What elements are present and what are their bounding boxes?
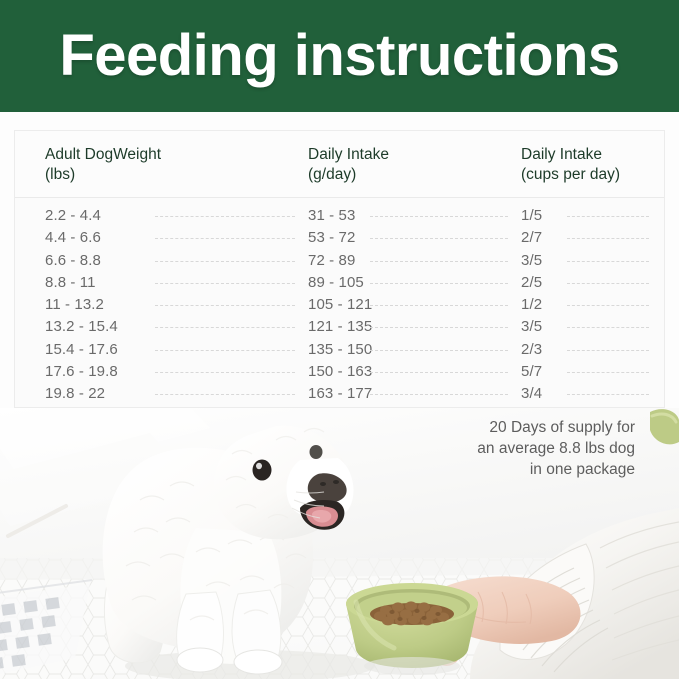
column-header-cups-title: Daily Intake bbox=[521, 146, 602, 163]
leader-line bbox=[155, 238, 295, 239]
supply-note-line-2: an average 8.8 lbs dog bbox=[375, 438, 635, 459]
leader-line bbox=[567, 350, 649, 351]
leader-line bbox=[370, 394, 508, 395]
leader-line bbox=[567, 327, 649, 328]
cell-weight: 4.4 - 6.6 bbox=[45, 227, 101, 249]
column-header-weight-title: Adult DogWeight bbox=[45, 146, 161, 163]
leader-line bbox=[567, 238, 649, 239]
feeding-instructions-page: Feeding instructions Adult DogWeight(lbs… bbox=[0, 0, 679, 679]
cell-grams: 31 - 53 bbox=[308, 205, 355, 227]
cell-weight: 15.4 - 17.6 bbox=[45, 339, 118, 361]
table-row: 13.2 - 15.4 121 - 135 3/5 bbox=[15, 316, 664, 338]
leader-line bbox=[155, 261, 295, 262]
cell-cups: 3/5 bbox=[521, 250, 542, 272]
leader-line bbox=[155, 283, 295, 284]
table-row: 11 - 13.2 105 - 121 1/2 bbox=[15, 294, 664, 316]
table-row: 4.4 - 6.6 53 - 72 2/7 bbox=[15, 227, 664, 249]
cell-weight: 11 - 13.2 bbox=[45, 294, 104, 316]
cell-grams: 53 - 72 bbox=[308, 227, 355, 249]
cell-weight: 8.8 - 11 bbox=[45, 272, 96, 294]
cell-grams: 89 - 105 bbox=[308, 272, 364, 294]
cell-cups: 2/7 bbox=[521, 227, 542, 249]
leader-line bbox=[155, 216, 295, 217]
leader-line bbox=[155, 372, 295, 373]
leader-line bbox=[567, 216, 649, 217]
leader-line bbox=[370, 372, 508, 373]
cell-grams: 121 - 135 bbox=[308, 316, 372, 338]
cell-grams: 105 - 121 bbox=[308, 294, 372, 316]
column-header-grams: Daily Intake(g/day) bbox=[308, 145, 389, 186]
page-title: Feeding instructions bbox=[59, 27, 619, 85]
cell-grams: 135 - 150 bbox=[308, 339, 372, 361]
table-row: 6.6 - 8.8 72 - 89 3/5 bbox=[15, 250, 664, 272]
leader-line bbox=[567, 261, 649, 262]
table-body: 2.2 - 4.4 31 - 53 1/5 4.4 - 6.6 53 - 72 … bbox=[15, 198, 664, 406]
leader-line bbox=[155, 305, 295, 306]
cell-cups: 3/4 bbox=[521, 383, 542, 405]
leader-line bbox=[370, 283, 508, 284]
leader-line bbox=[567, 305, 649, 306]
leader-line bbox=[155, 350, 295, 351]
table-row: 15.4 - 17.6 135 - 150 2/3 bbox=[15, 339, 664, 361]
cell-cups: 5/7 bbox=[521, 361, 542, 383]
leader-line bbox=[567, 394, 649, 395]
supply-note: 20 Days of supply for an average 8.8 lbs… bbox=[375, 417, 635, 480]
leader-line bbox=[155, 327, 295, 328]
cell-grams: 150 - 163 bbox=[308, 361, 372, 383]
cell-weight: 2.2 - 4.4 bbox=[45, 205, 101, 227]
column-header-cups-unit: (cups per day) bbox=[521, 166, 620, 183]
cell-cups: 1/2 bbox=[521, 294, 542, 316]
cell-cups: 2/5 bbox=[521, 272, 542, 294]
leader-line bbox=[155, 394, 295, 395]
leader-line bbox=[370, 305, 508, 306]
table-header-row: Adult DogWeight(lbs) Daily Intake(g/day)… bbox=[15, 131, 664, 198]
column-header-grams-title: Daily Intake bbox=[308, 146, 389, 163]
table-row: 2.2 - 4.4 31 - 53 1/5 bbox=[15, 205, 664, 227]
column-header-weight-unit: (lbs) bbox=[45, 166, 75, 183]
cell-weight: 13.2 - 15.4 bbox=[45, 316, 118, 338]
table-row: 19.8 - 22 163 - 177 3/4 bbox=[15, 383, 664, 405]
leader-line bbox=[370, 261, 508, 262]
table-row: 8.8 - 11 89 - 105 2/5 bbox=[15, 272, 664, 294]
supply-note-line-3: in one package bbox=[375, 459, 635, 480]
cell-weight: 19.8 - 22 bbox=[45, 383, 105, 405]
cell-cups: 1/5 bbox=[521, 205, 542, 227]
cell-cups: 2/3 bbox=[521, 339, 542, 361]
leader-line bbox=[567, 283, 649, 284]
column-header-grams-unit: (g/day) bbox=[308, 166, 356, 183]
leader-line bbox=[370, 350, 508, 351]
feeding-table-panel: Adult DogWeight(lbs) Daily Intake(g/day)… bbox=[14, 130, 665, 408]
column-header-weight: Adult DogWeight(lbs) bbox=[45, 145, 161, 186]
header-banner: Feeding instructions bbox=[0, 0, 679, 112]
cell-weight: 17.6 - 19.8 bbox=[45, 361, 118, 383]
supply-note-line-1: 20 Days of supply for bbox=[375, 417, 635, 438]
table-row: 17.6 - 19.8 150 - 163 5/7 bbox=[15, 361, 664, 383]
leader-line bbox=[370, 238, 508, 239]
cell-cups: 3/5 bbox=[521, 316, 542, 338]
cell-weight: 6.6 - 8.8 bbox=[45, 250, 101, 272]
cell-grams: 163 - 177 bbox=[308, 383, 372, 405]
column-header-cups: Daily Intake(cups per day) bbox=[521, 145, 620, 186]
leader-line bbox=[567, 372, 649, 373]
leader-line bbox=[370, 327, 508, 328]
cell-grams: 72 - 89 bbox=[308, 250, 355, 272]
leader-line bbox=[370, 216, 508, 217]
